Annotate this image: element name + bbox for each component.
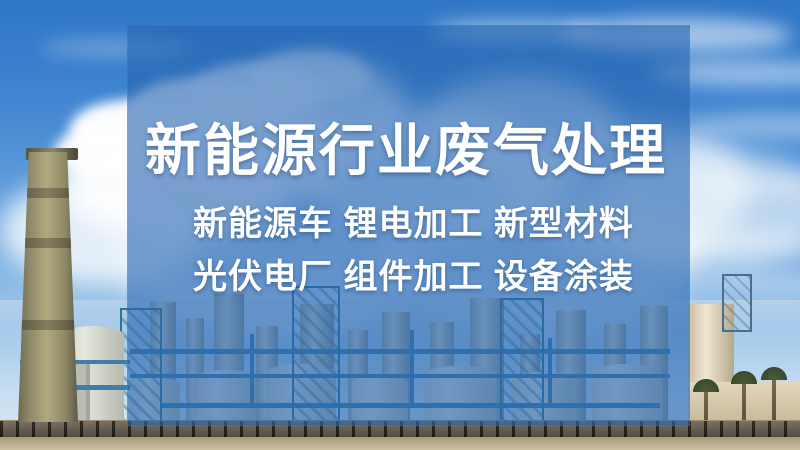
cirrus-wisp (690, 115, 800, 137)
banner-subtitle-line-2: 光伏电厂 组件加工 设备涂装 (193, 251, 675, 304)
banner-headline: 新能源行业废气处理 (145, 118, 675, 184)
palm-frond (731, 371, 757, 384)
palm-tree (772, 376, 776, 424)
banner-subtitle-line-1: 新能源车 锂电加工 新型材料 (193, 198, 675, 251)
promo-banner: 新能源行业废气处理 新能源车 锂电加工 新型材料 光伏电厂 组件加工 设备涂装 (0, 0, 800, 450)
banner-subtitle-group: 新能源车 锂电加工 新型材料 光伏电厂 组件加工 设备涂装 (193, 198, 675, 304)
palm-tree (704, 388, 708, 424)
palm-frond (761, 367, 787, 380)
palm-frond (693, 379, 719, 392)
palm-tree (742, 380, 746, 424)
track-ballast (0, 437, 800, 450)
banner-text-block: 新能源行业废气处理 新能源车 锂电加工 新型材料 光伏电厂 组件加工 设备涂装 (145, 118, 675, 304)
silo-headframe (722, 274, 752, 332)
